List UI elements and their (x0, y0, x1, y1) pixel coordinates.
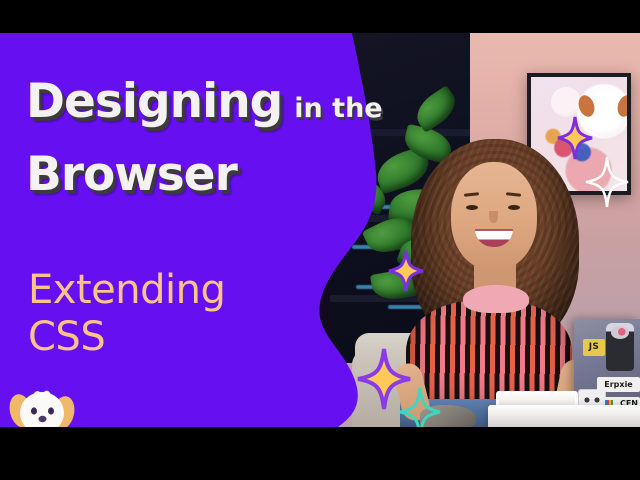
video-frame: JS Erpxie CEN (0, 33, 640, 427)
sparkle-icon-poster (558, 117, 592, 159)
subtitle-line-2: CSS (28, 314, 225, 361)
title-small-words: in the (294, 93, 382, 124)
letterbox-bar-top (0, 0, 640, 33)
title-line-2: Browser (26, 151, 383, 198)
subtitle-line-1: Extending (28, 267, 225, 314)
sparkle-icon-plant (389, 251, 423, 291)
title-main-word: Designing (26, 74, 282, 129)
sparkle-icon-teal (400, 388, 440, 427)
title-block: Designingin the Browser (26, 78, 383, 198)
subtitle-block: Extending CSS (28, 267, 225, 361)
video-player-frame: JS Erpxie CEN (0, 0, 640, 480)
title-line-1: Designingin the (26, 78, 383, 125)
sparkle-icon-wall (586, 157, 628, 207)
letterbox-bar-bottom (0, 427, 640, 480)
dog-mascot-logo (6, 385, 78, 427)
